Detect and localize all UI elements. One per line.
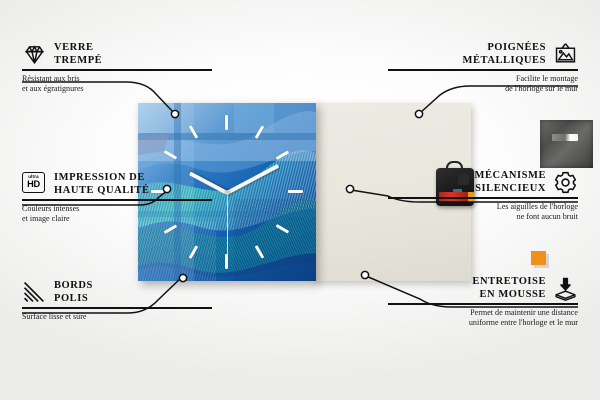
callout-rule [22,199,212,201]
callout-subtitle-1: Surface lisse et sûre [22,312,212,322]
callout-subtitle-1: Couleurs intenses [22,204,212,214]
callout-rule [388,69,578,71]
callout-entretoise-en-mousse: ENTRETOISE EN MOUSSE Permet de maintenir… [388,276,578,328]
callout-poignees-metalliques: POIGNÉES MÉTALLIQUES Facilite le montage… [388,42,578,94]
callout-rule [388,303,578,305]
callout-impression-haute-qualite: ultra HD IMPRESSION DE HAUTE QUALITÉ Cou… [22,172,212,224]
clock-tick-12 [225,115,228,130]
foam-spacer [531,251,546,265]
callout-rule [22,69,212,71]
callout-subtitle-1: Les aiguilles de l'horloge [388,202,578,212]
gear-icon [553,170,578,195]
picture-frame-hanging-icon [553,42,578,67]
ultra-hd-large-text: HD [27,180,40,189]
callout-title: POIGNÉES MÉTALLIQUES [463,42,546,67]
callout-title: ENTRETOISE EN MOUSSE [472,276,546,301]
callout-header: ultra HD IMPRESSION DE HAUTE QUALITÉ [22,172,212,197]
callout-subtitle-1: Facilite le montage [388,74,578,84]
metal-hanger-plate [540,120,593,168]
callout-rule [22,307,212,309]
callout-title: IMPRESSION DE HAUTE QUALITÉ [54,172,150,197]
callout-subtitle-2: et image claire [22,214,212,224]
callout-title: BORDS POLIS [54,280,93,305]
diagonal-lines-icon [22,280,47,305]
callout-subtitle-1: Permet de maintenir une distance [388,308,578,318]
clock-hand-second [227,192,228,254]
callout-subtitle-2: uniforme entre l'horloge et le mur [388,318,578,328]
callout-mecanisme-silencieux: MÉCANISME SILENCIEUX Les aiguilles de l'… [388,170,578,222]
callout-subtitle-2: ne font aucun bruit [388,212,578,222]
callout-subtitle-2: et aux égratignures [22,84,212,94]
hanger-slot [552,134,578,141]
ultra-hd-icon: ultra HD [22,172,47,197]
callout-header: VERRE TREMPÉ [22,42,212,67]
callout-verre-trempe: VERRE TREMPÉ Résistant aux bris et aux é… [22,42,212,94]
clock-tick-6 [225,254,228,269]
callout-header: POIGNÉES MÉTALLIQUES [388,42,578,67]
callout-header: ENTRETOISE EN MOUSSE [388,276,578,301]
callout-title: MÉCANISME SILENCIEUX [475,170,546,195]
callout-rule [388,197,578,199]
callout-header: BORDS POLIS [22,280,212,305]
clock-center-hub [225,190,230,195]
clock-tick-3 [288,190,303,193]
mechanism-hanging-loop [446,161,463,170]
callout-title: VERRE TREMPÉ [54,42,102,67]
callout-header: MÉCANISME SILENCIEUX [388,170,578,195]
callout-subtitle-1: Résistant aux bris [22,74,212,84]
callout-subtitle-2: de l'horloge sur le mur [388,84,578,94]
callout-bords-polis: BORDS POLIS Surface lisse et sûre [22,280,212,322]
press-down-pad-icon [553,276,578,301]
infographic-stage: VERRE TREMPÉ Résistant aux bris et aux é… [0,0,600,400]
diamond-icon [22,42,47,67]
